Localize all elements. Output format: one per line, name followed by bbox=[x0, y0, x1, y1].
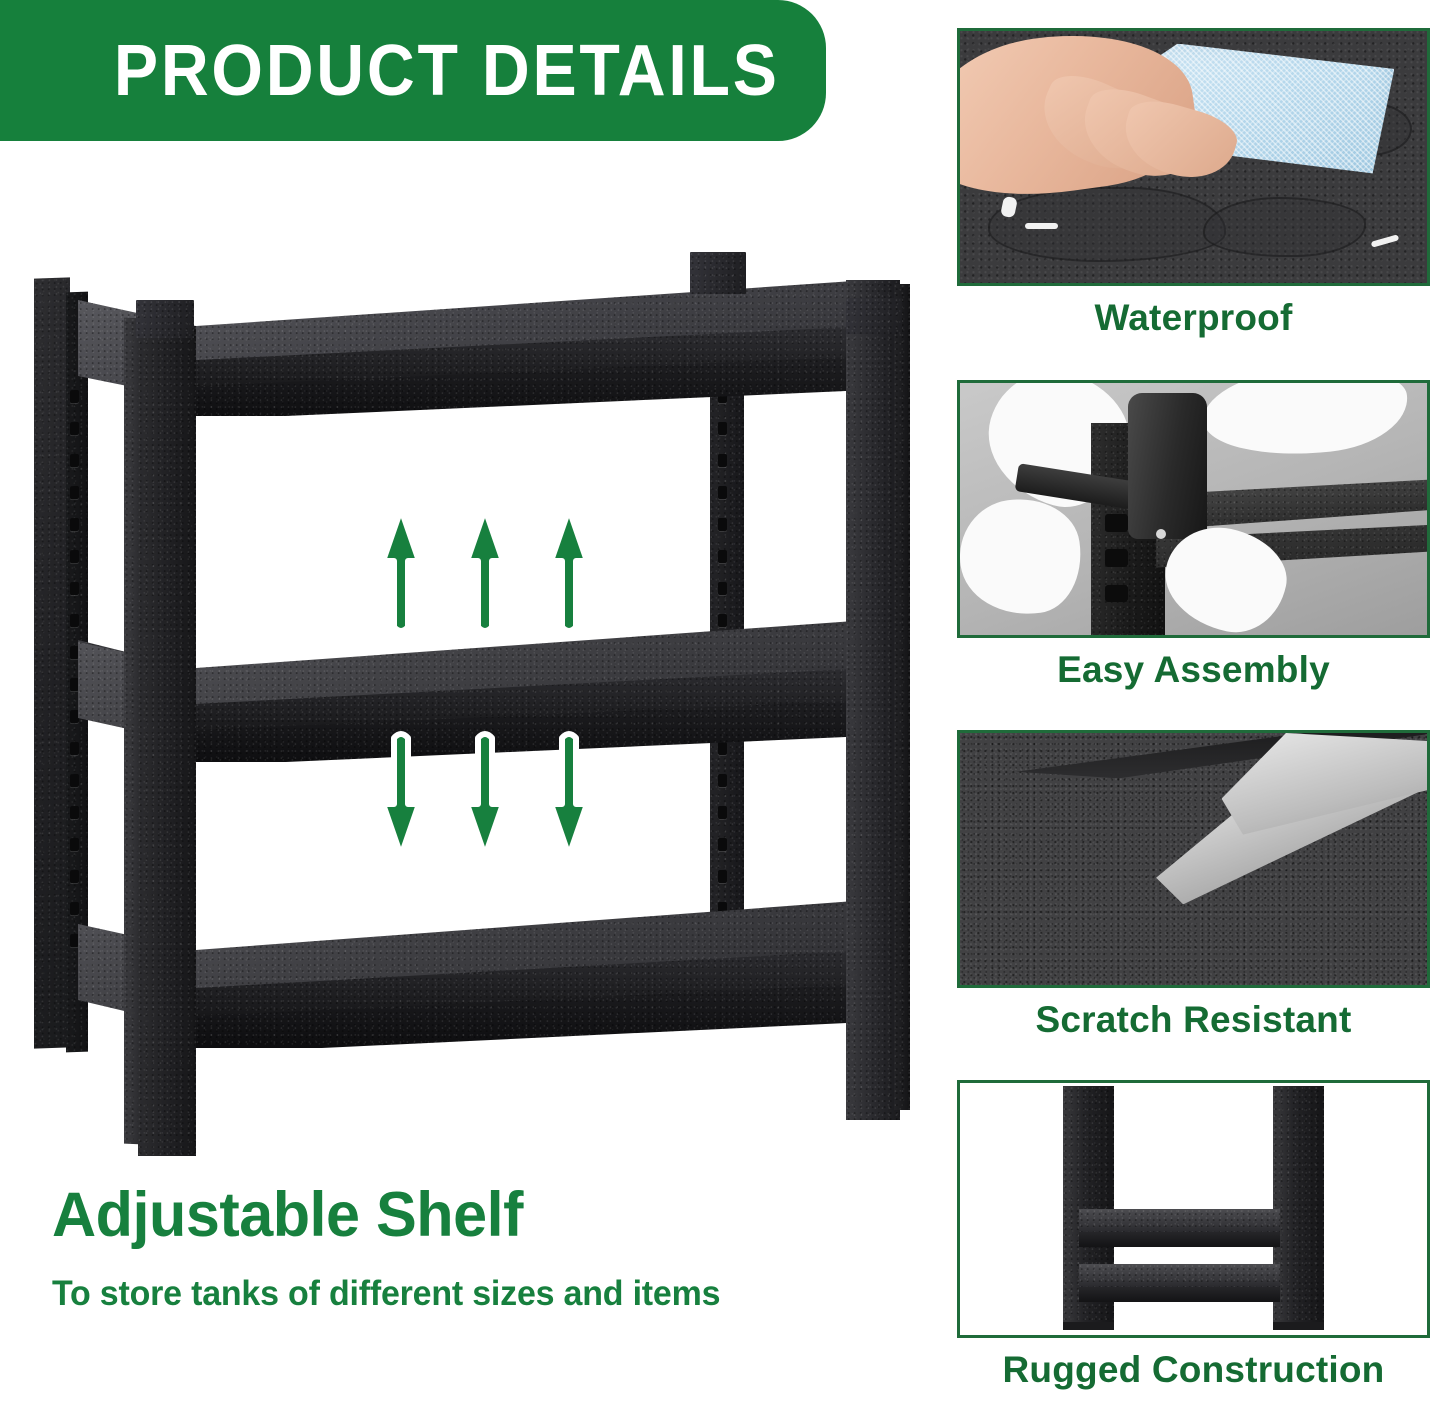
arrow-down-icon bbox=[462, 730, 508, 860]
feature-card-label: Rugged Construction bbox=[957, 1349, 1430, 1391]
arrow-down-icon bbox=[378, 730, 424, 860]
waterproof-photo bbox=[960, 31, 1427, 283]
feature-card-image-frame bbox=[957, 1080, 1430, 1338]
shelf-post-back-left bbox=[34, 277, 70, 1048]
arrow-up-icon bbox=[462, 505, 508, 635]
shelf-post-front-right-side bbox=[894, 284, 910, 1110]
feature-card-label: Scratch Resistant bbox=[957, 999, 1430, 1041]
shelf-post-front-left bbox=[138, 326, 196, 1156]
shelf-post-cap-front-left bbox=[136, 300, 194, 338]
feature-card-rugged-construction: Rugged Construction bbox=[957, 1080, 1430, 1391]
arrow-down-icon bbox=[546, 730, 592, 860]
shelf-post-front-right bbox=[846, 280, 900, 1120]
arrow-up-icon bbox=[546, 505, 592, 635]
feature-card-image-frame bbox=[957, 730, 1430, 988]
hero-product-image bbox=[0, 150, 935, 1170]
shelf-illustration bbox=[18, 240, 918, 1150]
arrow-up-icon bbox=[378, 505, 424, 635]
feature-card-label: Waterproof bbox=[957, 297, 1430, 339]
feature-card-easy-assembly: Easy Assembly bbox=[957, 380, 1430, 691]
feature-card-image-frame bbox=[957, 28, 1430, 286]
shelf-post-cap-front-right bbox=[846, 298, 902, 334]
easy-assembly-photo bbox=[960, 383, 1427, 635]
shelf-post-cap-rear-right bbox=[690, 252, 746, 294]
rugged-construction-photo bbox=[960, 1083, 1427, 1335]
hero-caption: Adjustable Shelf To store tanks of diffe… bbox=[52, 1182, 922, 1314]
product-details-banner: PRODUCT DETAILS bbox=[0, 0, 826, 141]
adjust-down-arrows bbox=[378, 730, 592, 860]
feature-card-scratch-resistant: Scratch Resistant bbox=[957, 730, 1430, 1041]
feature-card-list: Waterproof Easy Assembly bbox=[957, 28, 1430, 1400]
feature-card-label: Easy Assembly bbox=[957, 649, 1430, 691]
hero-caption-title: Adjustable Shelf bbox=[52, 1182, 896, 1248]
adjust-up-arrows bbox=[378, 505, 592, 635]
feature-card-waterproof: Waterproof bbox=[957, 28, 1430, 339]
feature-card-image-frame bbox=[957, 380, 1430, 638]
page-title: PRODUCT DETAILS bbox=[114, 30, 780, 112]
scratch-resistant-photo bbox=[960, 733, 1427, 985]
hero-caption-subtitle: To store tanks of different sizes and it… bbox=[52, 1274, 896, 1314]
